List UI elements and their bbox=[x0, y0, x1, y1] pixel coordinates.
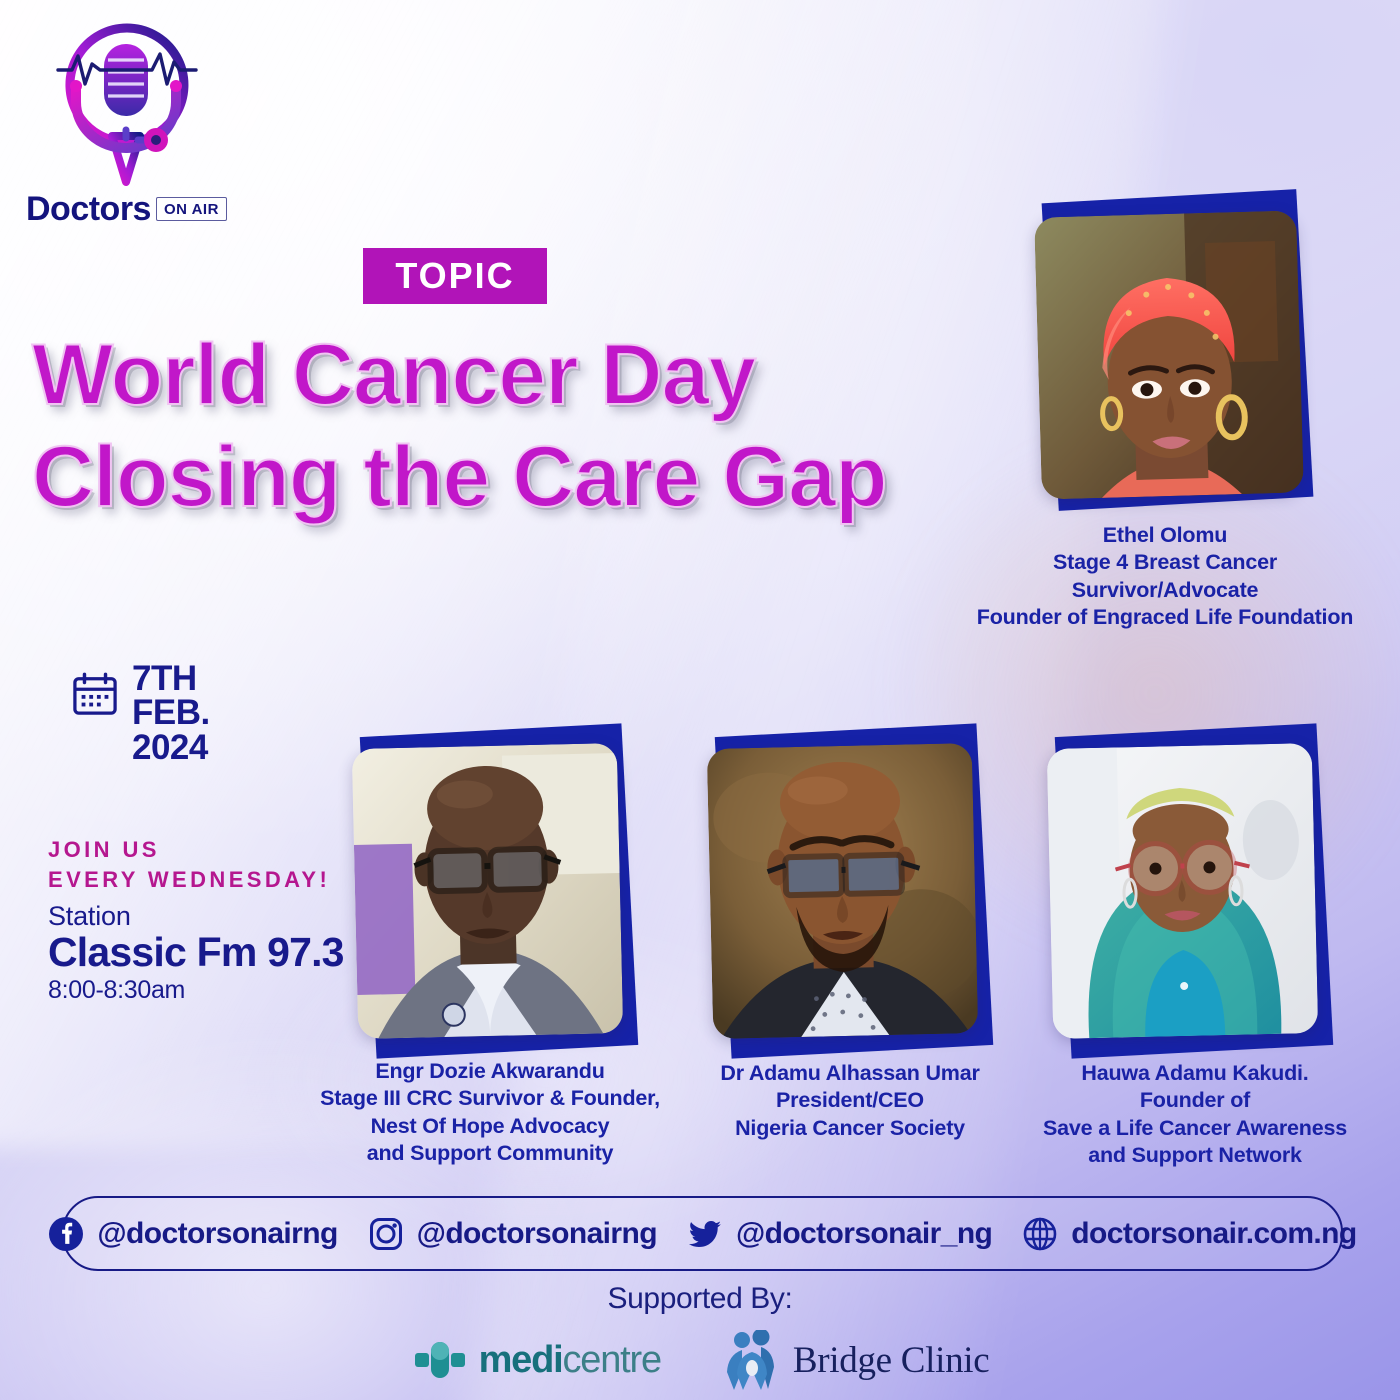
join-us-block: JOIN US EVERY WEDNESDAY! bbox=[48, 835, 330, 896]
speaker-caption-hauwa-adamu-kakudi: Hauwa Adamu Kakudi. Founder of Save a Li… bbox=[1000, 1060, 1390, 1169]
social-item-facebook[interactable]: @doctorsonairng bbox=[48, 1216, 337, 1252]
join-us-line-2: EVERY WEDNESDAY! bbox=[48, 865, 330, 895]
social-handle-twitter[interactable]: @doctorsonair_ng bbox=[736, 1217, 992, 1251]
social-handle-website[interactable]: doctorsonair.com.ng bbox=[1071, 1217, 1356, 1251]
station-time: 8:00-8:30am bbox=[48, 977, 344, 1005]
date-year: 2024 bbox=[132, 731, 210, 765]
caption-line: Stage III CRC Survivor & Founder, bbox=[300, 1085, 680, 1112]
event-date-text: 7TH FEB. 2024 bbox=[132, 662, 210, 765]
topic-badge: TOPIC bbox=[363, 248, 547, 304]
speaker-caption-engr-dozie-akwarandu: Engr Dozie Akwarandu Stage III CRC Survi… bbox=[300, 1058, 680, 1167]
title-line-2: Closing the Care Gap bbox=[32, 434, 1012, 522]
speaker-photo bbox=[707, 743, 979, 1039]
caption-line: Save a Life Cancer Awareness bbox=[1000, 1115, 1390, 1142]
social-item-instagram[interactable]: @doctorsonairng bbox=[368, 1216, 657, 1252]
speaker-photo-image bbox=[352, 743, 624, 1039]
caption-line: Nest Of Hope Advocacy bbox=[300, 1113, 680, 1140]
logo-onair-badge: ON AIR bbox=[156, 197, 227, 221]
caption-line: Founder of Engraced Life Foundation bbox=[940, 604, 1390, 631]
event-date: 7TH FEB. 2024 bbox=[72, 662, 210, 765]
speaker-caption-dr-adamu-alhassan-umar: Dr Adamu Alhassan Umar President/CEO Nig… bbox=[660, 1060, 1040, 1142]
sponsor-bridge-clinic: Bridge Clinic bbox=[721, 1330, 990, 1390]
caption-line: and Support Network bbox=[1000, 1142, 1390, 1169]
caption-line: Survivor/Advocate bbox=[940, 577, 1390, 604]
social-item-website[interactable]: doctorsonair.com.ng bbox=[1022, 1216, 1356, 1252]
supported-by-label: Supported By: bbox=[0, 1282, 1400, 1316]
social-media-bar: @doctorsonairng @doctorsonairng @doctors… bbox=[62, 1196, 1343, 1271]
title-line-1: World Cancer Day bbox=[32, 332, 1012, 420]
sponsor-bridge-clinic-name: Bridge Clinic bbox=[793, 1339, 990, 1382]
sponsor-medicentre-name: medicentre bbox=[479, 1339, 661, 1382]
speaker-photo bbox=[1034, 210, 1304, 499]
calendar-icon bbox=[72, 672, 118, 716]
caption-line: Founder of bbox=[1000, 1087, 1390, 1114]
poster-canvas: Doctors ON AIR TOPIC World Cancer Day Cl… bbox=[0, 0, 1400, 1400]
caption-line: Ethel Olomu bbox=[940, 522, 1390, 549]
caption-line: Nigeria Cancer Society bbox=[660, 1115, 1040, 1142]
station-block: Station Classic Fm 97.3 8:00-8:30am bbox=[48, 902, 344, 1004]
twitter-icon[interactable] bbox=[687, 1216, 723, 1252]
sponsor-logos: medicentre Bridge Clinic bbox=[0, 1330, 1400, 1390]
speaker-photo-image bbox=[1047, 743, 1319, 1039]
instagram-icon[interactable] bbox=[368, 1216, 404, 1252]
caption-line: President/CEO bbox=[660, 1087, 1040, 1114]
speaker-card-hauwa-adamu-kakudi bbox=[1045, 730, 1335, 1055]
microphone-heartbeat-stethoscope-logo-icon bbox=[20, 14, 235, 194]
logo-wordmark: Doctors ON AIR bbox=[26, 192, 227, 226]
speaker-photo bbox=[352, 743, 624, 1039]
social-handle-instagram[interactable]: @doctorsonairng bbox=[417, 1217, 657, 1251]
speaker-card-ethel-olomu bbox=[1030, 196, 1310, 506]
social-item-twitter[interactable]: @doctorsonair_ng bbox=[687, 1216, 992, 1252]
caption-line: Dr Adamu Alhassan Umar bbox=[660, 1060, 1040, 1087]
two-people-icon bbox=[721, 1330, 783, 1390]
globe-icon[interactable] bbox=[1022, 1216, 1058, 1252]
speaker-card-dr-adamu-alhassan-umar bbox=[705, 730, 995, 1055]
speaker-photo-image bbox=[707, 743, 979, 1039]
join-us-line-1: JOIN US bbox=[48, 835, 330, 865]
caption-line: Engr Dozie Akwarandu bbox=[300, 1058, 680, 1085]
date-day: 7TH bbox=[132, 662, 210, 696]
station-name: Classic Fm 97.3 bbox=[48, 930, 344, 976]
sponsor-medicentre-bold: medi bbox=[479, 1339, 563, 1381]
date-month: FEB. bbox=[132, 696, 210, 730]
page-title: World Cancer Day Closing the Care Gap bbox=[32, 332, 1012, 521]
caption-line: Hauwa Adamu Kakudi. bbox=[1000, 1060, 1390, 1087]
speaker-photo-image bbox=[1034, 210, 1304, 499]
speaker-photo bbox=[1047, 743, 1319, 1039]
capsule-cross-icon bbox=[411, 1338, 469, 1382]
speaker-caption-ethel-olomu: Ethel Olomu Stage 4 Breast Cancer Surviv… bbox=[940, 522, 1390, 631]
sponsor-medicentre: medicentre bbox=[411, 1338, 661, 1382]
facebook-icon[interactable] bbox=[48, 1216, 84, 1252]
speaker-card-engr-dozie-akwarandu bbox=[350, 730, 640, 1055]
station-label: Station bbox=[48, 902, 344, 932]
topic-badge-label: TOPIC bbox=[395, 255, 514, 297]
brand-logo: Doctors ON AIR bbox=[20, 14, 235, 224]
logo-name-text: Doctors bbox=[26, 192, 151, 226]
social-handle-facebook[interactable]: @doctorsonairng bbox=[97, 1217, 337, 1251]
caption-line: Stage 4 Breast Cancer bbox=[940, 549, 1390, 576]
caption-line: and Support Community bbox=[300, 1140, 680, 1167]
sponsor-medicentre-light: centre bbox=[562, 1339, 660, 1381]
